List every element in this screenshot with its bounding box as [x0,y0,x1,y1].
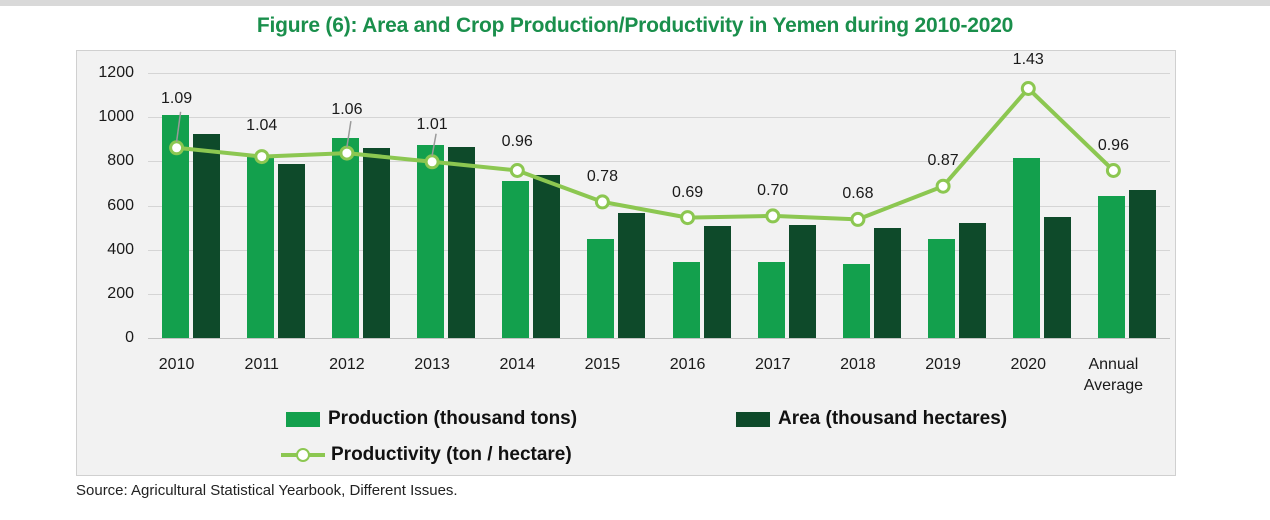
bar-production [673,262,700,338]
x-tick-label: Annual Average [1084,354,1143,396]
x-tick-label: 2012 [329,354,365,375]
x-tick-label: 2018 [840,354,876,375]
bar-production [502,181,529,338]
legend-item[interactable]: Productivity (ton / hectare) [281,444,572,466]
source-note: Source: Agricultural Statistical Yearboo… [76,482,458,499]
bar-production [587,239,614,338]
bar-production [162,115,189,338]
legend-label: Production (thousand tons) [328,408,577,430]
y-axis-labels: 020040060080010001200 [76,50,142,350]
bar-area [959,223,986,338]
bar-area [874,228,901,338]
bar-area [789,225,816,338]
chart-page: Figure (6): Area and Crop Production/Pro… [0,0,1270,520]
bar-production [928,239,955,338]
bar-production [758,262,785,338]
bar-group [247,73,305,338]
bar-group [417,73,475,338]
bar-group [758,73,816,338]
bar-group [162,73,220,338]
x-tick-label: 2019 [925,354,961,375]
y-tick-label: 800 [107,152,134,170]
page-title: Figure (6): Area and Crop Production/Pro… [0,14,1270,38]
bars-layer [148,73,1170,338]
x-tick-label: 2014 [499,354,535,375]
bar-area [278,164,305,338]
legend-swatch-area [736,412,770,427]
y-tick-label: 1200 [98,64,134,82]
x-tick-label: 2011 [245,354,279,375]
bar-area [448,147,475,338]
x-axis-labels: 2010201120122013201420152016201720182019… [148,348,1170,400]
bar-production [1098,196,1125,338]
bar-production [843,264,870,338]
bar-group [673,73,731,338]
bar-area [1129,190,1156,338]
x-tick-label: 2020 [1010,354,1046,375]
bar-group [587,73,645,338]
y-tick-label: 0 [125,329,134,347]
bar-production [332,138,359,338]
bar-group [928,73,986,338]
bar-area [363,148,390,338]
bar-area [533,175,560,338]
y-tick-label: 1000 [98,108,134,126]
bar-group [1013,73,1071,338]
top-strip [0,0,1270,6]
bar-group [843,73,901,338]
bar-production [247,157,274,338]
bar-area [1044,217,1071,338]
x-tick-label: 2017 [755,354,791,375]
x-tick-label: 2015 [585,354,621,375]
bar-group [332,73,390,338]
legend-swatch-production [286,412,320,427]
bar-area [704,226,731,338]
legend-item[interactable]: Production (thousand tons) [286,408,577,430]
legend-swatch-line [281,447,325,463]
chart-legend: Production (thousand tons)Area (thousand… [76,404,1176,472]
y-tick-label: 200 [107,285,134,303]
x-tick-label: 2016 [670,354,706,375]
y-tick-label: 400 [107,241,134,259]
x-tick-label: 2010 [159,354,195,375]
bar-area [193,134,220,338]
gridline-0 [148,338,1170,339]
bar-area [618,213,645,338]
bar-group [1098,73,1156,338]
x-tick-label: 2013 [414,354,450,375]
bar-production [1013,158,1040,338]
legend-item[interactable]: Area (thousand hectares) [736,408,1007,430]
legend-label: Productivity (ton / hectare) [331,444,572,466]
bar-production [417,145,444,338]
legend-label: Area (thousand hectares) [778,408,1007,430]
bar-group [502,73,560,338]
y-tick-label: 600 [107,197,134,215]
